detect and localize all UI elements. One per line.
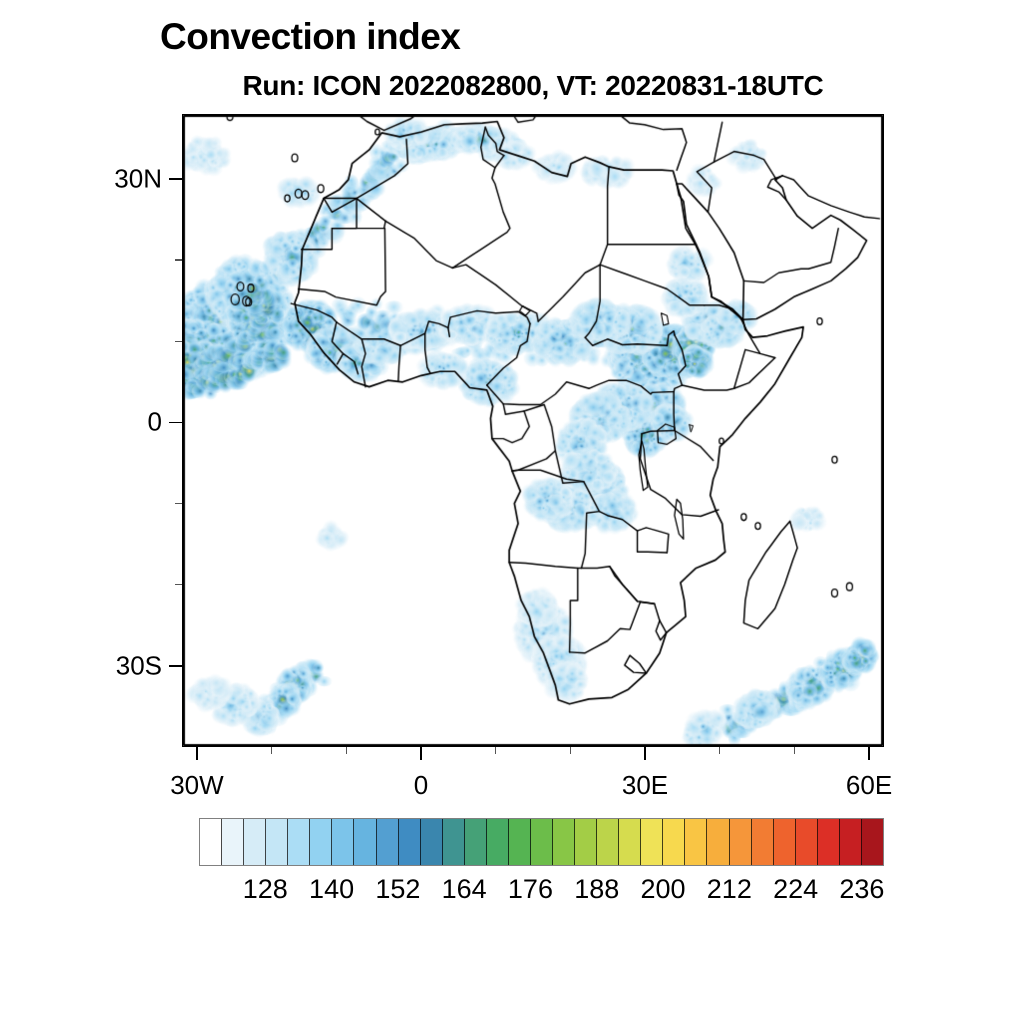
colorbar-cell-6 bbox=[332, 819, 354, 865]
y-axis-minor-tick bbox=[175, 259, 182, 260]
colorbar-cell-27 bbox=[796, 819, 818, 865]
colorbar-tick-label: 152 bbox=[375, 874, 420, 905]
colorbar-cell-30 bbox=[862, 819, 883, 865]
colorbar-cell-9 bbox=[399, 819, 421, 865]
chart-subtitle: Run: ICON 2022082800, VT: 20220831-18UTC bbox=[182, 70, 884, 102]
x-axis-minor-tick bbox=[719, 747, 720, 754]
figure-canvas: Convection index Run: ICON 2022082800, V… bbox=[0, 0, 1024, 1024]
x-axis-minor-tick bbox=[570, 747, 571, 754]
colorbar-cell-4 bbox=[288, 819, 310, 865]
colorbar-cell-28 bbox=[818, 819, 840, 865]
colorbar-tick-label: 176 bbox=[508, 874, 553, 905]
x-axis-tick-label: 30W bbox=[170, 770, 223, 801]
colorbar-tick-label: 164 bbox=[442, 874, 487, 905]
colorbar-cell-16 bbox=[553, 819, 575, 865]
colorbar-cell-7 bbox=[354, 819, 376, 865]
colorbar-cell-5 bbox=[310, 819, 332, 865]
colorbar-cell-13 bbox=[487, 819, 509, 865]
colorbar-tick-labels: 128140152164176188200212224236 bbox=[199, 874, 884, 914]
colorbar: 128140152164176188200212224236 bbox=[199, 818, 884, 866]
x-axis-major-tick bbox=[196, 747, 198, 760]
x-axis-major-tick bbox=[420, 747, 422, 760]
colorbar-cell-24 bbox=[730, 819, 752, 865]
colorbar-cell-0 bbox=[200, 819, 222, 865]
colorbar-tick-label: 188 bbox=[574, 874, 619, 905]
colorbar-cell-8 bbox=[377, 819, 399, 865]
x-axis-minor-tick bbox=[271, 747, 272, 754]
colorbar-cell-3 bbox=[266, 819, 288, 865]
y-axis-minor-tick bbox=[175, 584, 182, 585]
colorbar-tick-label: 212 bbox=[707, 874, 752, 905]
colorbar-tick-label: 224 bbox=[773, 874, 818, 905]
x-axis-tick-label: 0 bbox=[414, 770, 428, 801]
y-axis-tick-label: 30N bbox=[77, 163, 162, 194]
map-plot-area bbox=[182, 114, 884, 747]
colorbar-cell-23 bbox=[707, 819, 729, 865]
x-axis-major-tick bbox=[644, 747, 646, 760]
colorbar-cell-2 bbox=[244, 819, 266, 865]
convection-index-heatmap bbox=[183, 115, 883, 746]
colorbar-tick-label: 140 bbox=[309, 874, 354, 905]
colorbar-cell-1 bbox=[222, 819, 244, 865]
page-title: Convection index bbox=[160, 16, 460, 58]
colorbar-cell-12 bbox=[465, 819, 487, 865]
colorbar-cells bbox=[199, 818, 884, 866]
colorbar-cell-14 bbox=[509, 819, 531, 865]
colorbar-cell-19 bbox=[619, 819, 641, 865]
colorbar-cell-25 bbox=[752, 819, 774, 865]
y-axis-major-tick bbox=[169, 178, 182, 180]
colorbar-cell-21 bbox=[663, 819, 685, 865]
y-axis-major-tick bbox=[169, 665, 182, 667]
colorbar-cell-17 bbox=[575, 819, 597, 865]
colorbar-tick-label: 200 bbox=[641, 874, 686, 905]
colorbar-cell-15 bbox=[531, 819, 553, 865]
y-axis-major-tick bbox=[169, 422, 182, 424]
x-axis-minor-tick bbox=[346, 747, 347, 754]
x-axis-major-tick bbox=[868, 747, 870, 760]
x-axis-tick-label: 60E bbox=[846, 770, 892, 801]
y-axis-minor-tick bbox=[175, 503, 182, 504]
x-axis-tick-label: 30E bbox=[622, 770, 668, 801]
colorbar-cell-22 bbox=[685, 819, 707, 865]
colorbar-tick-label: 236 bbox=[839, 874, 884, 905]
colorbar-cell-20 bbox=[641, 819, 663, 865]
colorbar-cell-18 bbox=[597, 819, 619, 865]
colorbar-cell-29 bbox=[840, 819, 862, 865]
colorbar-cell-11 bbox=[443, 819, 465, 865]
colorbar-cell-26 bbox=[774, 819, 796, 865]
y-axis-minor-tick bbox=[175, 341, 182, 342]
y-axis-tick-label: 30S bbox=[77, 650, 162, 681]
colorbar-tick-label: 128 bbox=[243, 874, 288, 905]
colorbar-cell-10 bbox=[421, 819, 443, 865]
x-axis-minor-tick bbox=[794, 747, 795, 754]
y-axis-tick-label: 0 bbox=[77, 407, 162, 438]
x-axis-minor-tick bbox=[495, 747, 496, 754]
